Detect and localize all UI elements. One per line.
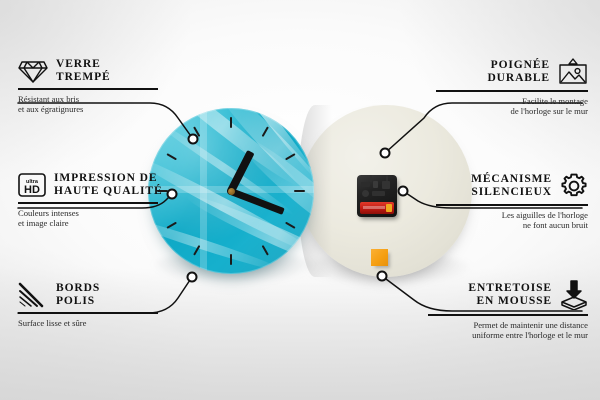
movement-detail: [382, 181, 390, 189]
callout-header: POIGNÉE DURABLE: [436, 58, 588, 86]
hands-center-cap: [228, 188, 235, 195]
ultra-hd-badge-icon: ultra HD: [18, 172, 46, 198]
callout-divider: [428, 314, 588, 316]
picture-frame-hanger-icon: [558, 58, 588, 86]
callout-divider: [18, 312, 158, 314]
callout-divider: [18, 202, 158, 204]
callout-title: IMPRESSION DE HAUTE QUALITÉ: [54, 172, 163, 198]
callout-description: Facilite le montage de l'horloge sur le …: [436, 96, 588, 117]
callout-header: ENTRETOISE EN MOUSSE: [428, 280, 588, 310]
callout-bords-polis: BORDS POLIS Surface lisse et sûre: [18, 282, 158, 328]
callout-description: Couleurs intenses et image claire: [18, 208, 158, 229]
callout-impression-haute-qualite: ultra HD IMPRESSION DE HAUTE QUALITÉ Cou…: [18, 172, 158, 229]
callout-description: Les aiguilles de l'horloge ne font aucun…: [436, 210, 588, 231]
callout-divider: [18, 88, 158, 90]
clock-face: [148, 108, 314, 274]
movement-detail: [372, 191, 385, 196]
quartz-movement: [357, 175, 397, 217]
callout-header: MÉCANISME SILENCIEUX: [436, 172, 588, 200]
infographic-canvas: VERRE TREMPÉ Résistant aux bris et aux é…: [0, 0, 600, 400]
callout-title: ENTRETOISE EN MOUSSE: [468, 282, 552, 308]
callout-title: POIGNÉE DURABLE: [487, 59, 550, 85]
callout-title: VERRE TREMPÉ: [56, 58, 111, 84]
callout-entretoise-en-mousse: ENTRETOISE EN MOUSSE Permet de maintenir…: [428, 280, 588, 341]
ultra-hd-badge-main-text: HD: [24, 184, 40, 196]
callout-header: ultra HD IMPRESSION DE HAUTE QUALITÉ: [18, 172, 158, 198]
callout-header: VERRE TREMPÉ: [18, 58, 158, 84]
gear-icon: [560, 172, 588, 200]
callout-verre-trempe: VERRE TREMPÉ Résistant aux bris et aux é…: [18, 58, 158, 115]
battery-stripe: [363, 206, 385, 209]
battery-positive-terminal: [386, 204, 392, 212]
callout-description: Résistant aux bris et aux égratignures: [18, 94, 158, 115]
movement-detail: [373, 181, 378, 188]
callout-mecanisme-silencieux: MÉCANISME SILENCIEUX Les aiguilles de l'…: [436, 172, 588, 231]
callout-title: BORDS POLIS: [56, 282, 100, 308]
callout-description: Permet de maintenir une distance uniform…: [428, 320, 588, 341]
callout-header: BORDS POLIS: [18, 282, 158, 308]
polished-edges-icon: [18, 282, 48, 308]
movement-detail: [362, 190, 369, 197]
callout-description: Surface lisse et sûre: [18, 318, 158, 329]
callout-title: MÉCANISME SILENCIEUX: [471, 173, 552, 199]
callout-divider: [436, 90, 588, 92]
callout-poignee-durable: POIGNÉE DURABLE Facilite le montage de l…: [436, 58, 588, 117]
movement-detail: [361, 182, 370, 187]
foam-spacer-arrow-icon: [560, 280, 588, 310]
callout-divider: [436, 204, 588, 206]
foam-spacer: [371, 249, 388, 266]
battery: [360, 202, 394, 214]
diamond-icon: [18, 58, 48, 84]
